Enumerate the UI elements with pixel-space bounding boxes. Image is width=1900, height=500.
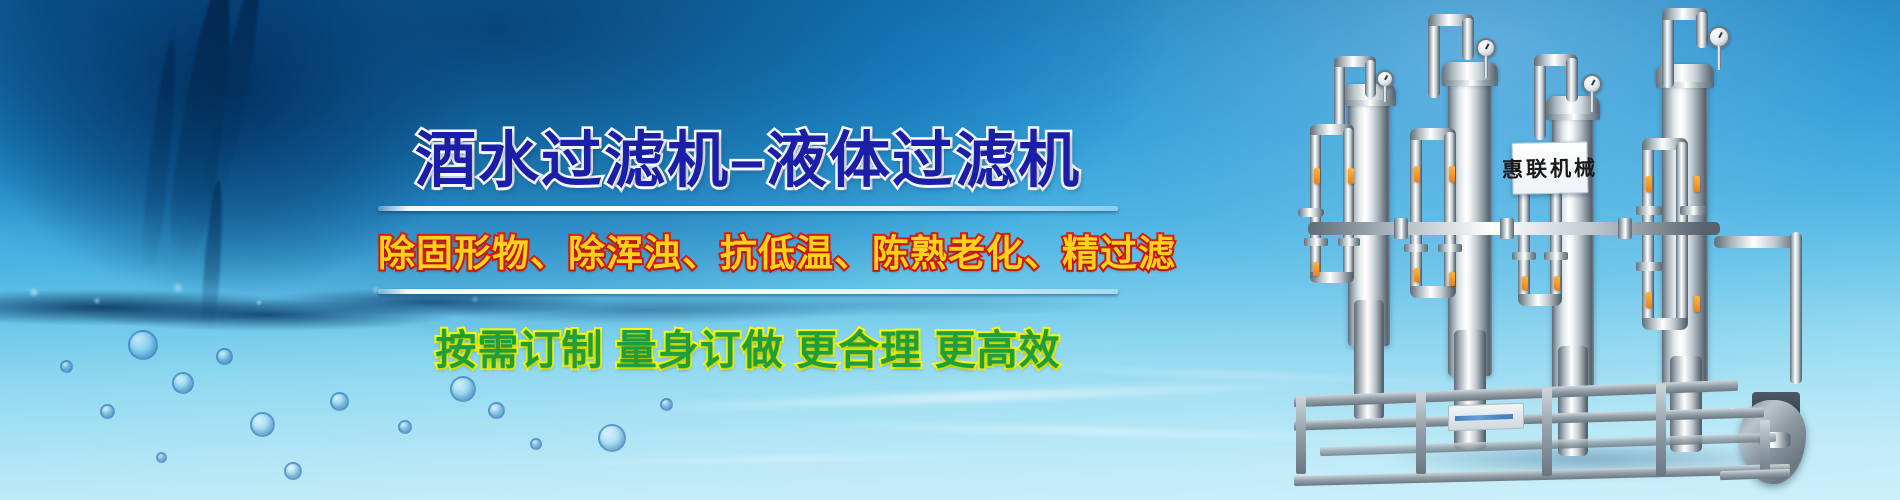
water-bubble-icon (530, 438, 542, 450)
gauge-stem-4 (1717, 46, 1721, 70)
inlet-riser-4 (1662, 12, 1674, 88)
water-bubble-icon (488, 402, 505, 419)
outlet-drop (1790, 244, 1802, 384)
ubend-left-1 (1310, 128, 1321, 278)
gauge-stem-3 (1590, 92, 1594, 112)
divider-bottom (378, 289, 1118, 294)
water-bubble-icon (330, 392, 349, 411)
water-bubble-icon (450, 376, 476, 402)
manifold-clamp-b (1500, 218, 1514, 239)
pipe-clamp-4b (1680, 206, 1706, 215)
water-bubble-icon (128, 330, 158, 360)
water-bubble-icon (60, 360, 73, 373)
gauge-stem-1 (1383, 86, 1387, 102)
vessel-clamp-2 (1442, 80, 1498, 86)
banner-copy: 酒水过滤机–液体过滤机 除固形物、除浑浊、抗低温、陈熟老化、精过滤 按需订制 量… (378, 128, 1118, 376)
brand-sign-label: 惠联机械 (1502, 152, 1599, 184)
frame-leg-2 (1416, 392, 1426, 474)
ubend-right-1 (1343, 128, 1354, 280)
banner-tagline: 按需订制 量身订做 更合理 更高效 (378, 316, 1118, 376)
outlet-run (1714, 236, 1802, 248)
pipe-clamp-2b (1438, 244, 1462, 252)
pressure-gauge-icon (1476, 38, 1496, 58)
page-title: 酒水过滤机–液体过滤机 (378, 128, 1118, 192)
water-bubble-icon (216, 348, 233, 365)
valve-handle-icon (1694, 296, 1700, 312)
water-bubble-icon (598, 424, 626, 452)
water-bubble-icon (660, 398, 673, 411)
valve-handle-icon (1449, 272, 1455, 286)
water-bubble-icon (172, 372, 194, 394)
frame-leg-4 (1656, 384, 1666, 476)
valve-handle-icon (1646, 176, 1652, 192)
pipe-clamp-4a (1636, 206, 1662, 215)
inlet-down-3 (1566, 58, 1578, 102)
frame-leg-3 (1542, 388, 1552, 476)
water-bubble-icon (284, 462, 302, 480)
brand-sign: 惠联机械 (1511, 141, 1588, 195)
pipe-clamp-4c (1636, 262, 1662, 271)
manifold-clamp-c (1618, 218, 1632, 239)
ubend-right-2 (1444, 132, 1456, 294)
valve-handle-icon (1414, 268, 1420, 282)
frame-leg-1 (1296, 396, 1306, 474)
pressure-gauge-icon (1708, 26, 1730, 48)
divider-top (378, 206, 1118, 211)
valve-handle-icon (1348, 168, 1354, 184)
product-banner: 酒水过滤机–液体过滤机 除固形物、除浑浊、抗低温、陈熟老化、精过滤 按需订制 量… (0, 0, 1900, 500)
banner-subtitle: 除固形物、除浑浊、抗低温、陈熟老化、精过滤 (378, 223, 1118, 277)
inlet-down-2 (1462, 18, 1474, 60)
pressure-gauge-icon (1582, 74, 1602, 94)
inlet-riser-2 (1428, 18, 1440, 98)
pipe-clamp-3b (1544, 252, 1568, 260)
pipe-clamp-1b (1338, 238, 1360, 246)
water-bubble-icon (398, 420, 412, 434)
ubend-bottom-4 (1642, 318, 1688, 330)
valve-handle-icon (1554, 276, 1560, 290)
valve-handle-icon (1694, 176, 1700, 192)
valve-handle-icon (1313, 262, 1319, 276)
inlet-down-4 (1696, 12, 1708, 48)
valve-handle-icon (1314, 168, 1320, 184)
inlet-riser-1 (1334, 60, 1345, 130)
pipe-clamp-1a (1304, 238, 1328, 246)
filter-machine: 惠联机械 (1290, 0, 1900, 500)
inlet-down-1 (1365, 60, 1376, 98)
ubend-bottom-3 (1518, 294, 1562, 306)
outlet-stub-1 (1298, 208, 1324, 217)
manifold-header (1308, 222, 1720, 235)
valve-handle-icon (1646, 292, 1652, 308)
water-bubble-icon (156, 452, 167, 463)
manifold-clamp-a (1394, 218, 1408, 239)
valve-handle-icon (1414, 166, 1420, 182)
vessel-clamp-3 (1546, 114, 1600, 120)
water-bubble-icon (100, 404, 115, 419)
pipe-clamp-3a (1512, 252, 1536, 260)
gauge-stem-2 (1484, 56, 1488, 78)
equipment-label-plate (1448, 403, 1524, 432)
ubend-bottom-2 (1410, 286, 1456, 298)
valve-handle-icon (1449, 166, 1455, 182)
water-bubble-icon (250, 412, 275, 437)
valve-handle-icon (1522, 276, 1528, 290)
pipe-clamp-2a (1404, 244, 1428, 252)
inlet-riser-3 (1534, 58, 1546, 140)
vessel-clamp-1 (1342, 100, 1396, 106)
